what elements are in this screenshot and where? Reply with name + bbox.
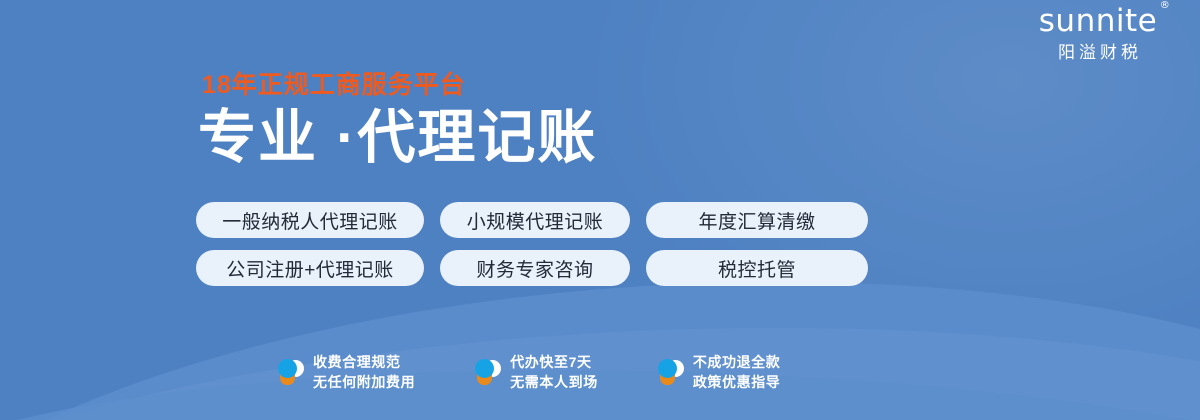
service-pill-row: 公司注册+代理记账 财务专家咨询 税控托管 [196,250,868,286]
service-pill[interactable]: 税控托管 [646,250,868,286]
feature-text: 不成功退全款 政策优惠指导 [693,352,781,393]
service-pill[interactable]: 财务专家咨询 [440,250,630,286]
hero-headline: 专业 ·代理记账 [198,108,956,169]
logo-chinese-name: 阳溢财税 [1014,44,1182,61]
logo-wordmark: sunnite ® [1039,6,1157,37]
brand-logo[interactable]: sunnite ® 阳溢财税 [1014,6,1182,61]
hero-eyebrow: 18年正规工商服务平台 [202,72,956,100]
promo-banner: sunnite ® 阳溢财税 18年正规工商服务平台 专业 ·代理记账 一般纳税… [0,0,1200,420]
feature-item: 代办快至7天 无需本人到场 [473,352,598,393]
service-pill[interactable]: 一般纳税人代理记账 [196,202,424,238]
service-pill[interactable]: 公司注册+代理记账 [196,250,424,286]
hero-copy: 18年正规工商服务平台 专业 ·代理记账 [196,72,956,168]
registered-trademark-icon: ® [1160,1,1171,11]
feature-line-1: 不成功退全款 [693,352,781,372]
feature-item: 收费合理规范 无任何附加费用 [276,352,415,393]
feature-line-1: 收费合理规范 [313,352,415,372]
service-pill-row: 一般纳税人代理记账 小规模代理记账 年度汇算清缴 [196,202,868,238]
feature-line-2: 政策优惠指导 [693,372,781,392]
circle-badge-dot-icon [658,359,677,378]
feature-line-2: 无需本人到场 [510,372,598,392]
feature-item: 不成功退全款 政策优惠指导 [656,352,781,393]
feature-line-1: 代办快至7天 [510,352,598,372]
circle-badge-icon [473,357,501,387]
service-pill[interactable]: 年度汇算清缴 [646,202,868,238]
service-pill-group: 一般纳税人代理记账 小规模代理记账 年度汇算清缴 公司注册+代理记账 财务专家咨… [196,202,868,286]
logo-wordmark-text: sunnite [1039,3,1157,39]
feature-strip: 收费合理规范 无任何附加费用 代办快至7天 无需本人到场 不成功退全款 [276,352,780,393]
feature-line-2: 无任何附加费用 [313,372,415,392]
circle-badge-icon [276,357,304,387]
feature-text: 收费合理规范 无任何附加费用 [313,352,415,393]
service-pill[interactable]: 小规模代理记账 [440,202,630,238]
feature-text: 代办快至7天 无需本人到场 [510,352,598,393]
circle-badge-icon [656,357,684,387]
